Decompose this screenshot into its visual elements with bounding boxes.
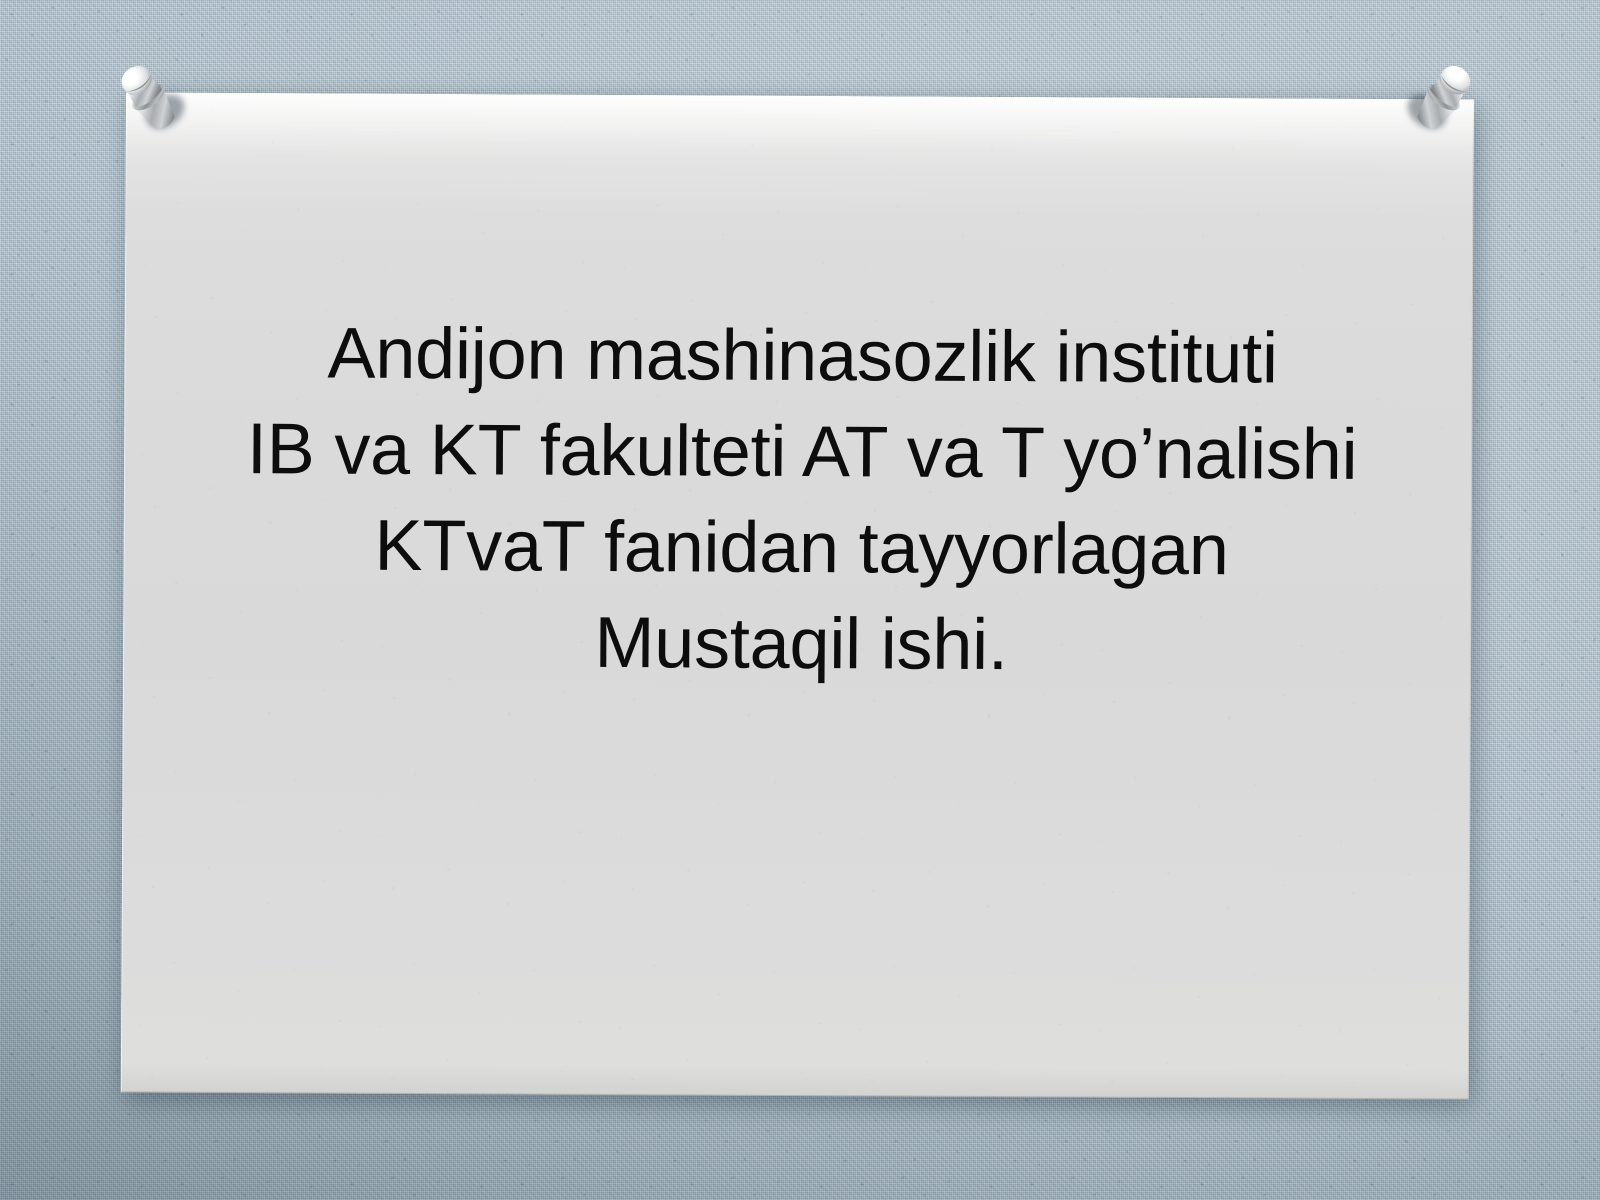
card-surface: Andijon mashinasozlik instituti IB va KT… [121, 92, 1474, 1099]
title-line-3: KTvaT fanidan tayyorlagan [137, 497, 1465, 600]
title-line-4: Mustaqil ishi. [137, 593, 1465, 696]
slide-title: Andijon mashinasozlik instituti IB va KT… [137, 305, 1467, 696]
title-line-1: Andijon mashinasozlik instituti [138, 305, 1466, 408]
title-line-2: IB va KT fakulteti AT va T yo’nalishi [138, 401, 1466, 504]
presentation-slide: Andijon mashinasozlik instituti IB va KT… [0, 0, 1600, 1200]
pinned-paper-card: Andijon mashinasozlik instituti IB va KT… [121, 92, 1474, 1099]
